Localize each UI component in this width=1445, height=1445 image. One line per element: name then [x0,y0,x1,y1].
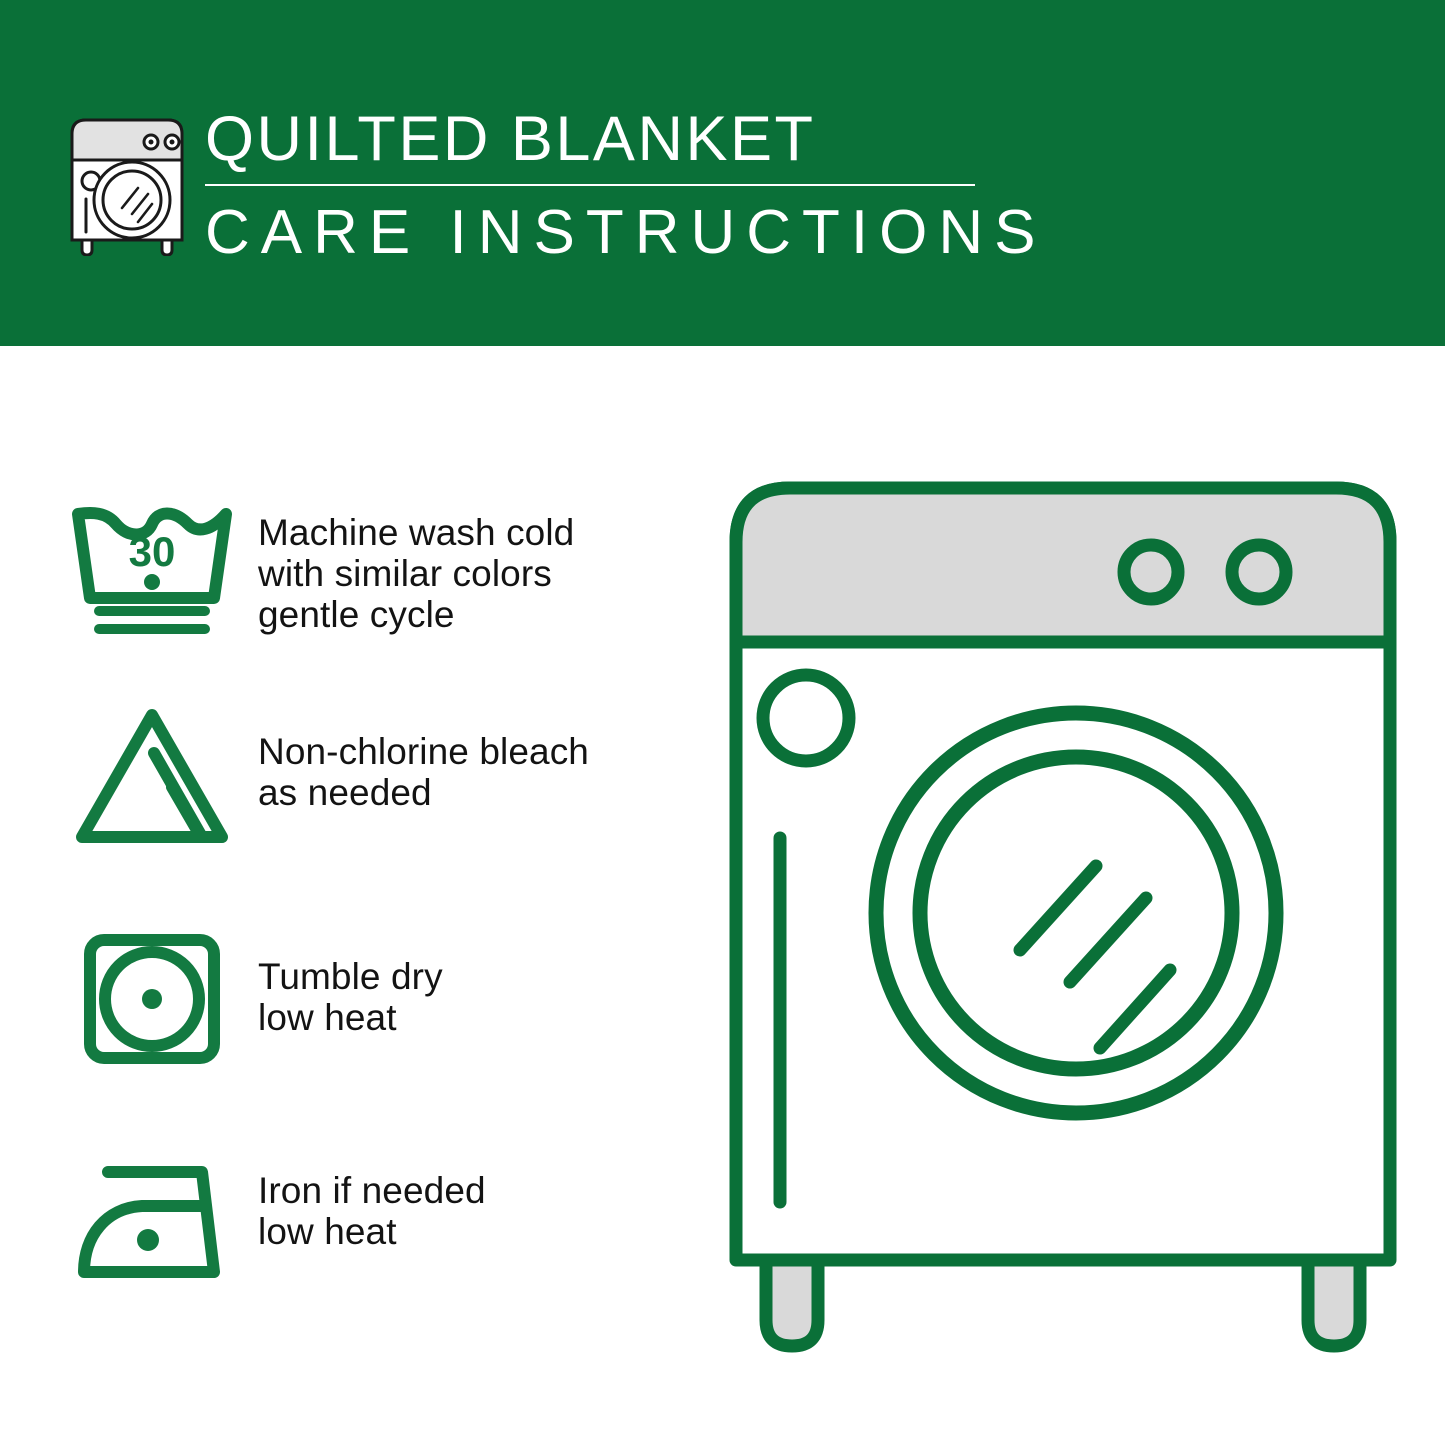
control-panel [736,488,1390,642]
iron-low-heat-icon [62,1146,242,1296]
care-label-line: with similar colors [258,553,574,594]
care-row-tumble-dry: Tumble dry low heat [62,924,682,1074]
care-label-line: gentle cycle [258,594,574,635]
title-divider [205,184,975,186]
care-label-iron: Iron if needed low heat [258,1146,486,1252]
care-label-line: low heat [258,997,443,1038]
header-banner: QUILTED BLANKET CARE INSTRUCTIONS [0,0,1445,346]
tumble-dry-low-icon [62,924,242,1074]
care-label-line: Machine wash cold [258,512,574,553]
care-instruction-list: 30 Machine wash cold with similar colors… [0,346,700,1445]
care-instructions-infographic: QUILTED BLANKET CARE INSTRUCTIONS 30 Mac… [0,0,1445,1445]
care-label-line: Non-chlorine bleach [258,731,589,772]
care-row-iron: Iron if needed low heat [62,1146,682,1296]
page-subtitle: CARE INSTRUCTIONS [205,196,995,270]
care-label-machine-wash: Machine wash cold with similar colors ge… [258,494,574,635]
care-label-bleach: Non-chlorine bleach as needed [258,701,589,813]
care-row-bleach: Non-chlorine bleach as needed [62,701,682,851]
wash-temperature-label: 30 [129,528,176,575]
care-label-line: as needed [258,772,589,813]
care-label-line: Tumble dry [258,956,443,997]
care-label-line: low heat [258,1211,486,1252]
care-label-line: Iron if needed [258,1170,486,1211]
care-label-tumble-dry: Tumble dry low heat [258,924,443,1038]
care-row-machine-wash: 30 Machine wash cold with similar colors… [62,494,682,644]
front-load-washing-machine-illustration [718,470,1408,1370]
header-text-block: QUILTED BLANKET CARE INSTRUCTIONS [205,100,995,270]
page-title: QUILTED BLANKET [205,100,995,178]
wash-tub-30-gentle-icon: 30 [62,494,242,644]
bleach-triangle-non-chlorine-icon [62,701,242,851]
washing-machine-icon [62,104,192,256]
